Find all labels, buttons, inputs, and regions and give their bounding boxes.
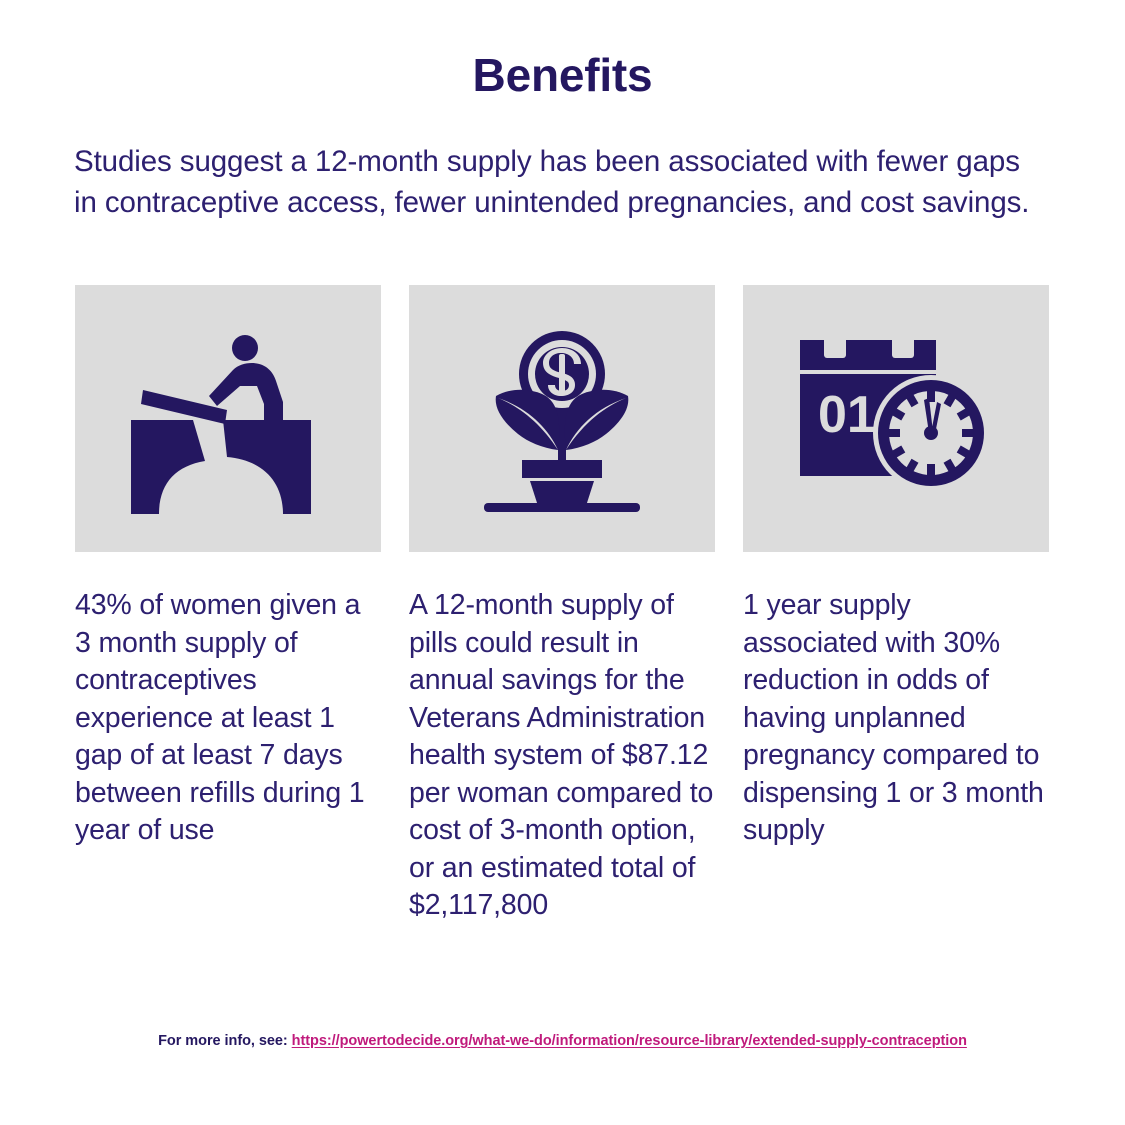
page-title: Benefits: [0, 50, 1125, 101]
icon-panel-2: [409, 285, 715, 552]
benefit-text-1: 43% of women given a 3 month supply of c…: [75, 587, 381, 850]
money-plant-icon: [462, 324, 662, 514]
person-bridging-gap-icon: [123, 324, 333, 514]
benefit-column-2: A 12-month supply of pills could result …: [409, 285, 715, 925]
benefit-column-1: 43% of women given a 3 month supply of c…: [75, 285, 381, 850]
benefit-columns: 43% of women given a 3 month supply of c…: [75, 285, 1050, 925]
benefit-text-3: 1 year supply associated with 30% reduct…: [743, 587, 1049, 850]
benefit-column-3: 01: [743, 285, 1049, 850]
intro-paragraph: Studies suggest a 12-month supply has be…: [74, 141, 1042, 223]
calendar-clock-icon: 01: [796, 336, 996, 501]
resource-link[interactable]: https://powertodecide.org/what-we-do/inf…: [292, 1033, 967, 1049]
infographic-page: Benefits Studies suggest a 12-month supp…: [0, 0, 1125, 1125]
footer-lead-text: For more info, see:: [158, 1033, 288, 1049]
icon-panel-3: 01: [743, 285, 1049, 552]
svg-text:01: 01: [818, 386, 876, 444]
benefit-text-2: A 12-month supply of pills could result …: [409, 587, 715, 925]
icon-panel-1: [75, 285, 381, 552]
footer: For more info, see: https://powertodecid…: [0, 1033, 1125, 1049]
